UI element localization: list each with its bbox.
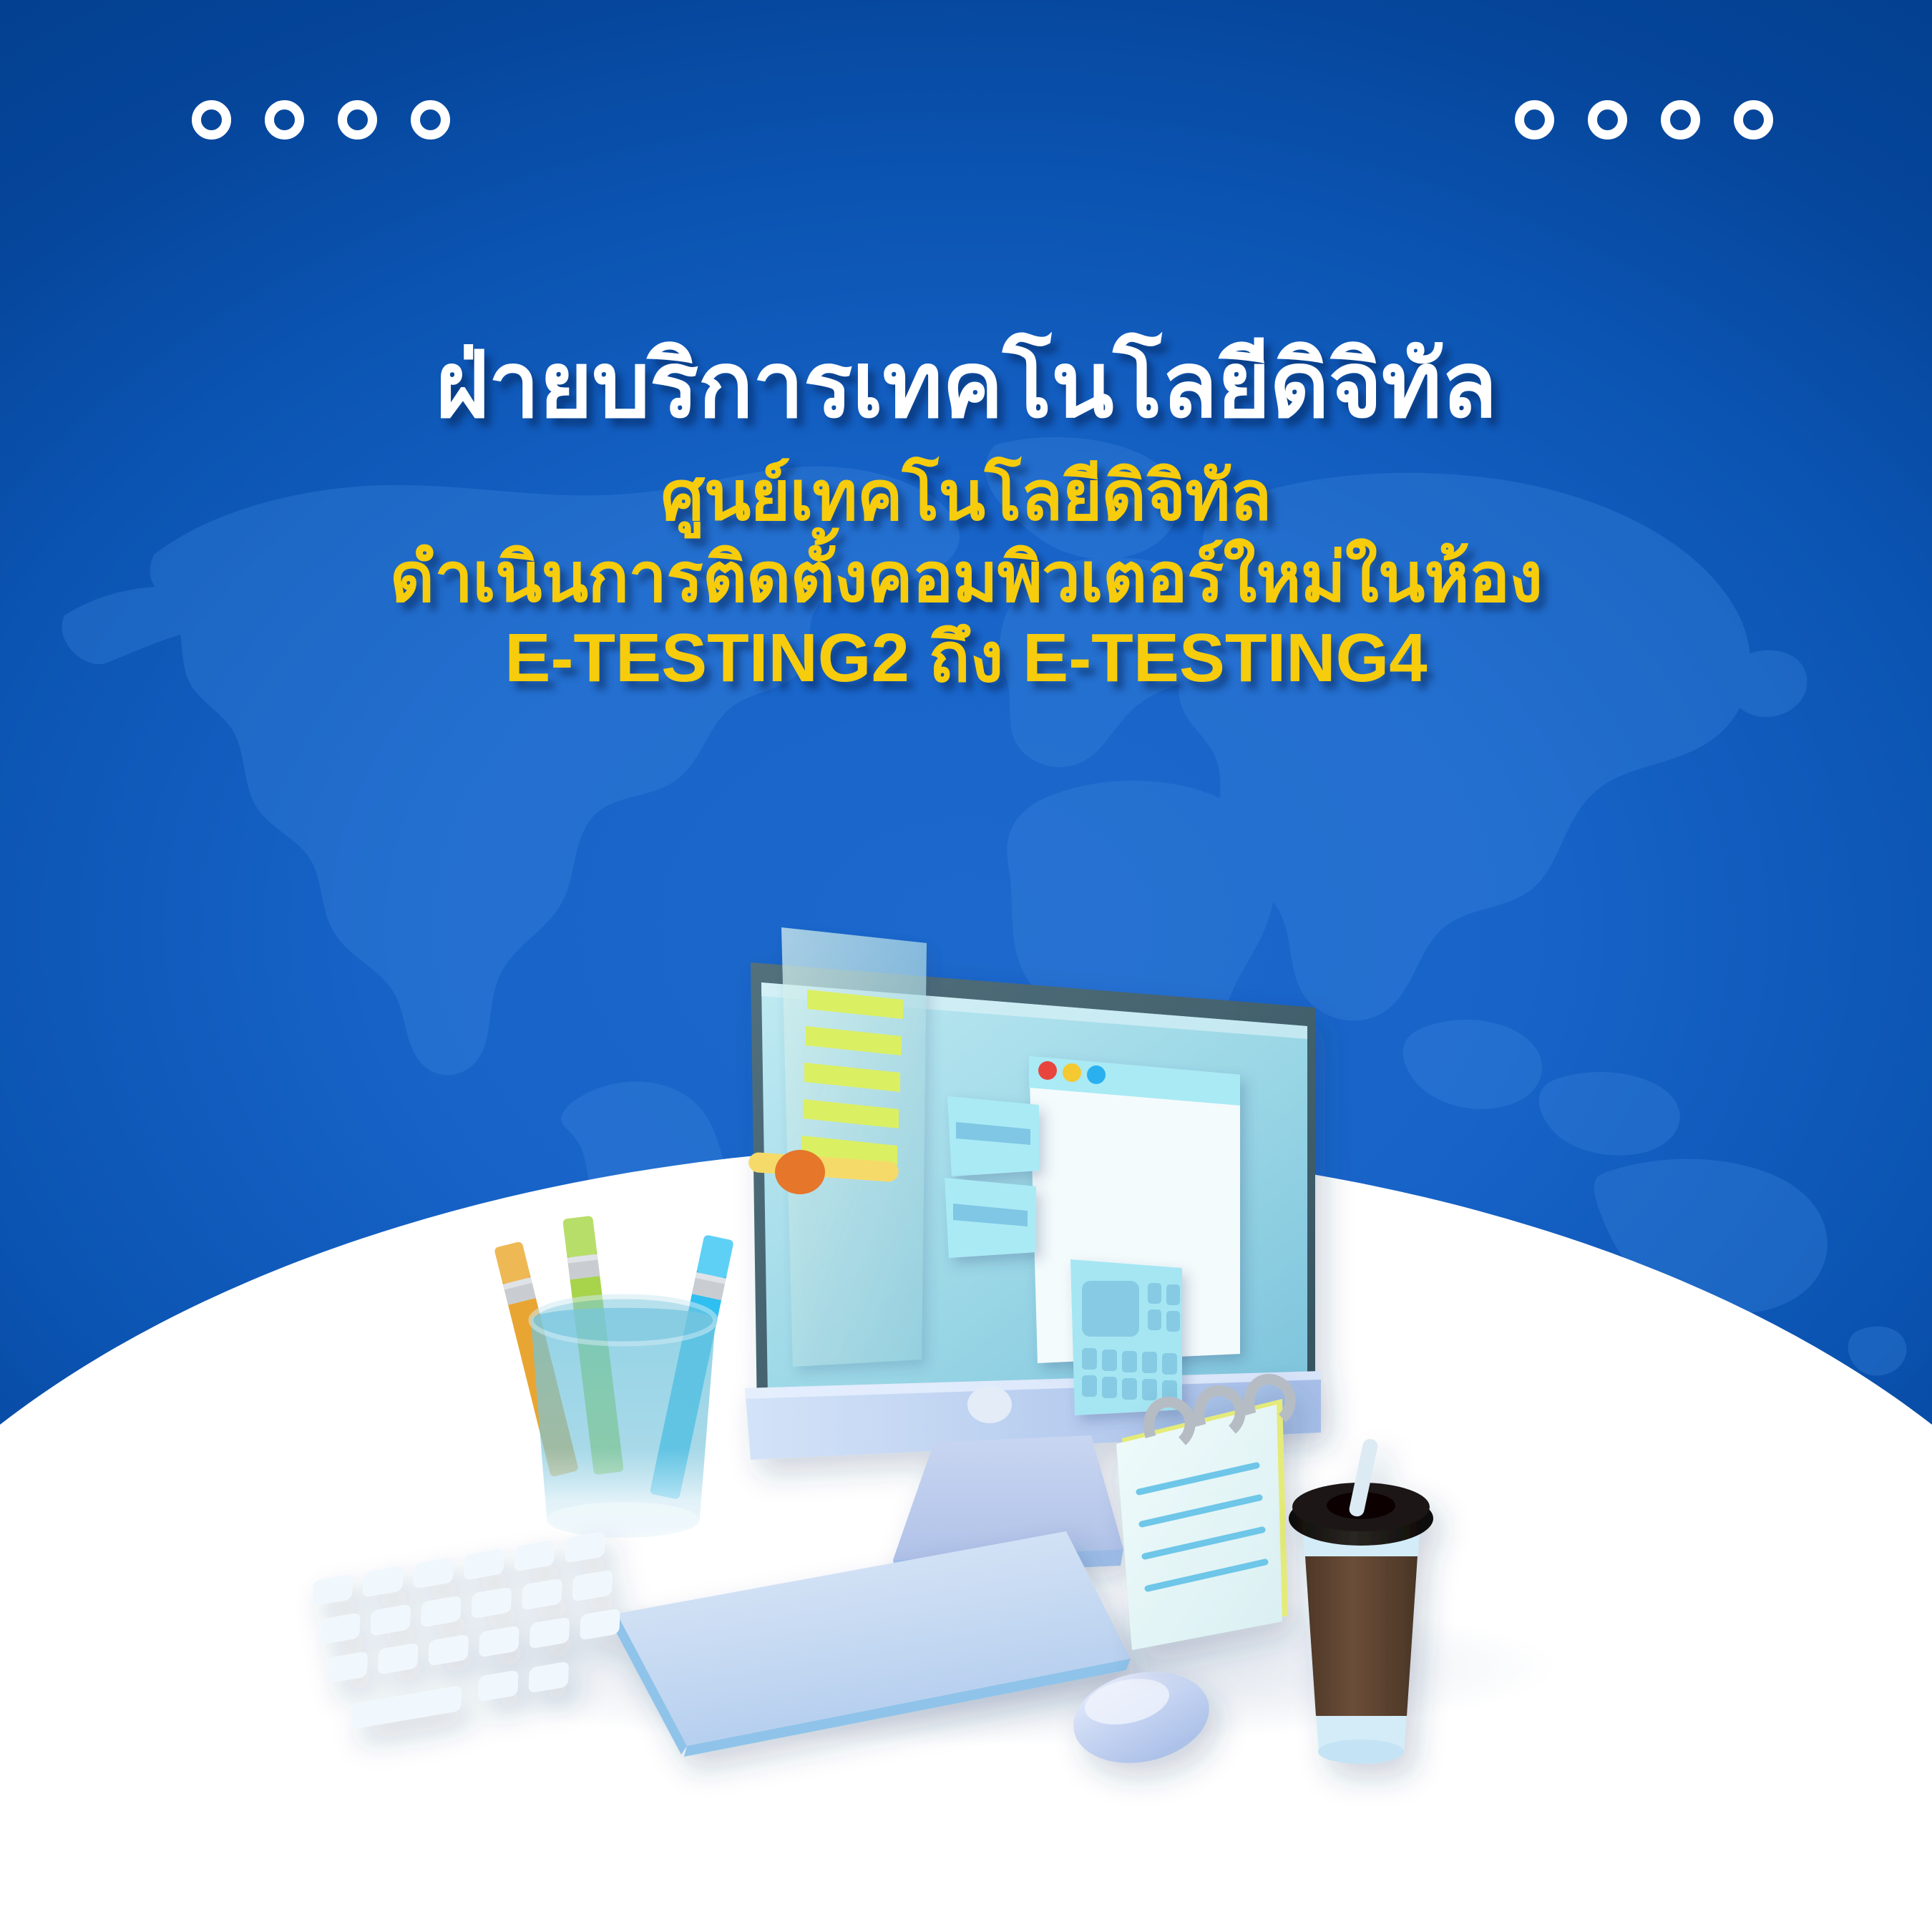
ring-dot-icon (1515, 100, 1554, 140)
ring-dot-icon (265, 100, 304, 140)
poster-canvas: ฝ่ายบริการเทคโนโลยีดิจิทัล ศูนย์เทคโนโลย… (0, 0, 1932, 1932)
decor-dots-left (192, 100, 450, 140)
ring-dot-icon (192, 100, 231, 140)
ring-dot-icon (1588, 100, 1627, 140)
ring-dot-icon (1661, 100, 1700, 140)
ring-dot-icon (338, 100, 377, 140)
ring-dot-icon (411, 100, 450, 140)
decor-dots-right (1515, 100, 1773, 140)
ring-dot-icon (1734, 100, 1773, 140)
